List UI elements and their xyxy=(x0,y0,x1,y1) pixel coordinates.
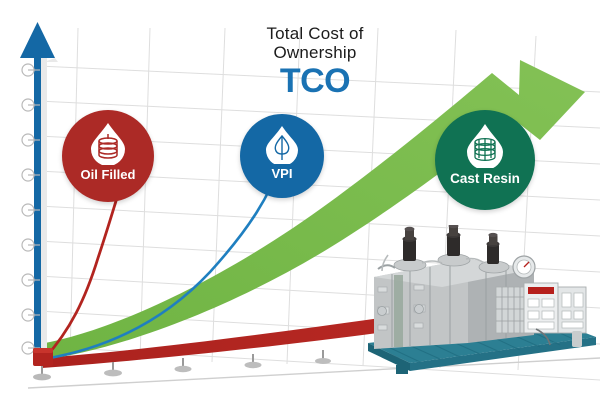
node-vpi[interactable]: VPI xyxy=(240,114,324,198)
cast-resin-transformer-photo xyxy=(358,225,600,375)
droplet-cylinder-icon xyxy=(464,122,506,168)
node-label-vpi: VPI xyxy=(240,166,324,181)
baseline-pin-icon xyxy=(104,362,122,376)
baseline-pins xyxy=(33,346,401,380)
tco-infographic: Total Cost of Ownership TCO Oil Filled V… xyxy=(0,0,600,400)
up-arrow-icon xyxy=(20,22,55,58)
node-cast-resin[interactable]: Cast Resin xyxy=(435,110,535,210)
droplet-coil-icon xyxy=(88,121,128,165)
node-label-oil-filled: Oil Filled xyxy=(62,167,154,182)
baseline-pin-icon xyxy=(315,350,331,364)
droplet-leaf-icon xyxy=(264,124,300,164)
baseline-pin-icon xyxy=(245,354,262,368)
y-axis-shadow xyxy=(41,48,47,358)
node-label-cast-resin: Cast Resin xyxy=(435,171,535,186)
baseline-pin-icon xyxy=(33,366,51,380)
origin-block-icon xyxy=(33,348,53,366)
y-axis-shaft xyxy=(34,44,41,360)
baseline-pin-icon xyxy=(175,358,192,372)
node-oil-filled[interactable]: Oil Filled xyxy=(62,110,154,202)
